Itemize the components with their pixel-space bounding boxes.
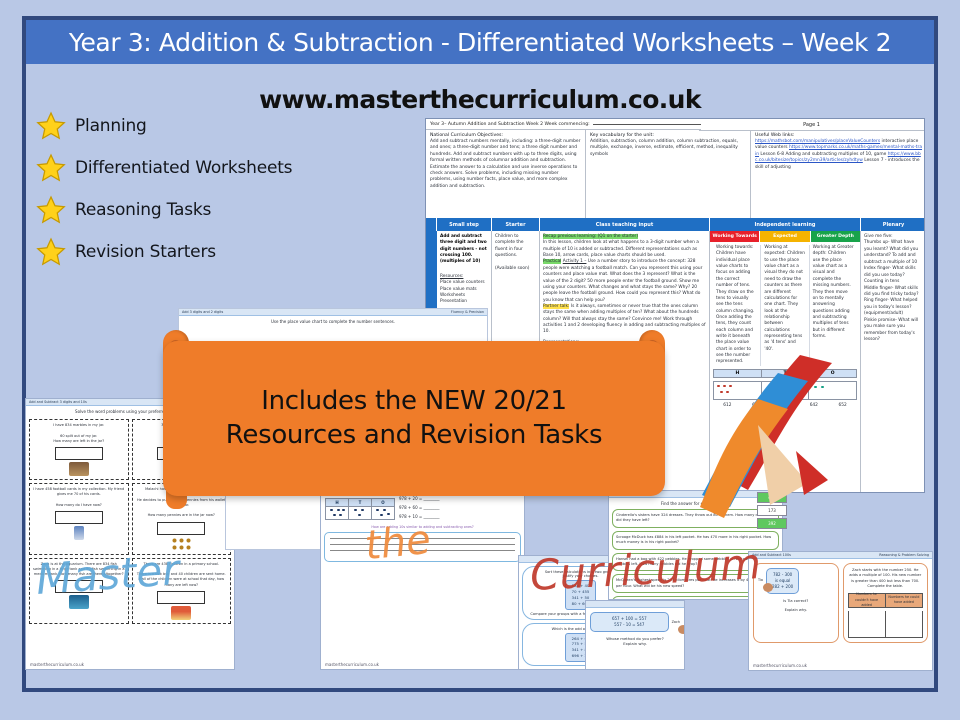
worksheet-header-right: Fluency & Precision — [451, 310, 484, 314]
pv-col-tens: T — [349, 499, 372, 519]
list-item: Differentiated Worksheets — [36, 147, 366, 189]
worksheet-header-left: Add and Subtract 3 digits and 10s — [29, 400, 87, 404]
avatar-name: Zach — [672, 620, 680, 624]
table-cell[interactable] — [849, 611, 886, 637]
list-item-label: Revision Starters — [75, 242, 216, 262]
table-header-cell: Numbers he could have added — [886, 594, 922, 607]
football-card-image — [74, 526, 84, 540]
answer-box[interactable] — [157, 591, 205, 604]
word-problem-cell: I have 834 marbles in my jar. 60 spilt o… — [29, 419, 129, 480]
worksheet-footer-url: masterthecurriculum.co.uk — [753, 663, 807, 668]
banner-line-2: Resources and Revision Tasks — [226, 419, 602, 452]
answer-table-body[interactable] — [848, 611, 924, 638]
small-step-text: Add and subtract three digit and two dig… — [440, 234, 487, 264]
cell-text: There are 438 children in a primary scho… — [137, 562, 226, 587]
planning-header-line: Year 3– Autumn Addition and Subtraction … — [426, 119, 701, 130]
worksheet-header — [586, 601, 684, 608]
worksheet-header: Add and Subtract 100s Reasoning & Proble… — [749, 552, 932, 559]
col-header-plenary: Plenary — [861, 218, 925, 231]
resources-text: Place value counters Place value mats Wo… — [440, 280, 488, 305]
equation[interactable]: 978 + 20 = ________ — [399, 495, 440, 504]
pv-col-hundreds: H — [326, 499, 349, 519]
tia-question: Is Tia correct? — [758, 599, 834, 604]
method-bubble: 657 + 100 = 557 557 - 10 = 547 — [590, 612, 669, 632]
banner-line-1: Includes the NEW 20/21 — [261, 385, 567, 418]
star-icon — [36, 237, 66, 267]
aquarium-image — [69, 595, 89, 609]
activity-tag: Activity 1 – — [563, 259, 587, 264]
resources-heading: Resources: — [440, 274, 463, 279]
tia-reasoning-card[interactable]: Add and Subtract 100s Reasoning & Proble… — [748, 551, 933, 671]
pv-col-ones: O — [372, 499, 394, 519]
col-header-class-teaching: Class teaching input — [540, 218, 710, 231]
worksheet-header-left: Add 3 digits and 2 digits — [182, 310, 223, 314]
answer-box[interactable] — [157, 522, 205, 535]
planning-column-headers: Small step Starter Class teaching input … — [426, 218, 925, 231]
worksheet-footer-url: masterthecurriculum.co.uk — [325, 662, 379, 667]
star-icon — [36, 111, 66, 141]
list-item: Revision Starters — [36, 231, 366, 273]
recap-tag: Recap previous learning: (Q1 on the star… — [543, 234, 638, 239]
col-header-starter: Starter — [492, 218, 540, 231]
col-header-small-step: Small step — [437, 218, 492, 231]
worksheet-header-right: Reasoning & Problem Solving — [879, 553, 929, 557]
answer-box[interactable] — [55, 580, 103, 593]
list-item-label: Reasoning Tasks — [75, 200, 211, 220]
school-image — [171, 606, 191, 620]
slide-canvas: Year 3: Addition & Subtraction - Differe… — [0, 0, 960, 720]
list-item-label: Differentiated Worksheets — [75, 158, 292, 178]
reasoning-item: Scrooge McDuck has £884 in his left pock… — [612, 531, 779, 550]
teaching-body-2: Use a number story to introduce the conc… — [543, 259, 702, 302]
feature-list: Planning Differentiated Worksheets Reaso… — [36, 105, 366, 273]
plenary-text: Give me five: Thumbs up- What have you l… — [864, 234, 923, 343]
word-problem-cell: I have 458 football cards in my collecti… — [29, 483, 129, 555]
table-cell[interactable] — [886, 611, 922, 637]
cell-text: I have 458 football cards in my collecti… — [33, 487, 124, 507]
answer-speech-box[interactable] — [324, 532, 521, 562]
rag-label-expected: Expected — [760, 231, 810, 242]
slide-title-bar: Year 3: Addition & Subtraction - Differe… — [26, 20, 934, 64]
word-problem-cell: There are 438 children in a primary scho… — [132, 558, 232, 624]
answer-box[interactable] — [55, 511, 103, 524]
equation[interactable]: 978 + 10 = ________ — [399, 513, 440, 522]
ribbon-decoration — [700, 355, 860, 520]
method-comparison-card[interactable]: 657 + 100 = 557 557 - 10 = 547 Zach Whos… — [585, 600, 685, 670]
answer-box[interactable] — [55, 447, 103, 460]
partner-talk-tag: Partner talk: — [543, 304, 569, 309]
coins-image — [171, 537, 191, 551]
tia-left-card: Tia 782 - 300 is equal 282 + 200 Is Tia … — [753, 563, 839, 643]
worksheet-title: Use the place value chart to complete th… — [179, 319, 487, 324]
nc-objectives-box: National Curriculum Objectives: Add and … — [426, 130, 586, 218]
list-item: Reasoning Tasks — [36, 189, 366, 231]
key-vocabulary-box: Key vocabulary for the unit: Addition, s… — [586, 130, 751, 218]
cell-text: Zach is at the aquarium. There are 834 f… — [33, 562, 125, 577]
tia-explain: Explain why. — [758, 608, 834, 613]
method-question: Whose method do you prefer? Explain why. — [586, 636, 684, 646]
cell-plenary: Give me five: Thumbs up- What have you l… — [861, 231, 925, 493]
jar-of-marbles-image — [69, 462, 89, 476]
list-item-label: Planning — [75, 116, 147, 136]
worksheet-header: Add 3 digits and 2 digits Fluency & Prec… — [179, 309, 487, 316]
star-icon — [36, 195, 66, 225]
worksheet-footer-url: masterthecurriculum.co.uk — [30, 662, 84, 667]
list-item: Planning — [36, 105, 366, 147]
rag-label-working-towards: Working Towards — [710, 231, 760, 242]
link-item[interactable]: https://mathsbot.com/manipulatives/place… — [755, 139, 880, 144]
useful-links-box: Useful Web links: https://mathsbot.com/m… — [751, 130, 925, 218]
reflection-prompt: How are adding 10s similar to adding and… — [321, 525, 524, 529]
rag-body-working-towards: Working towards: Children have individua… — [713, 245, 761, 366]
teaching-body-1: In this lesson, children look at what ha… — [543, 240, 706, 259]
table-header-cell: Numbers he couldn't have added — [849, 594, 886, 607]
rag-body-greater-depth: Working at Greater depth: Children use t… — [810, 245, 857, 366]
rag-body-expected: Working at expected: Children to use the… — [761, 245, 809, 366]
place-value-grid: H T O — [325, 498, 395, 520]
cell-text: I have 834 marbles in my jar. 60 spilt o… — [53, 423, 104, 443]
starter-text: Children to complete the fluent in four … — [495, 234, 536, 272]
star-icon — [36, 153, 66, 183]
link-note: Lesson 6-8 Adding and subtracting multip… — [760, 152, 886, 157]
worksheet-header-left: Add and Subtract 100s — [752, 553, 791, 557]
word-problem-cell: Zach is at the aquarium. There are 834 f… — [29, 558, 129, 624]
zach-problem-text: Zach starts with the number 250. He adds… — [848, 568, 924, 590]
rag-header-row: Working Towards Expected Greater Depth — [710, 231, 860, 242]
planning-info-row: National Curriculum Objectives: Add and … — [426, 130, 925, 218]
tia-right-card: Zach starts with the number 250. He adds… — [843, 563, 929, 643]
pv-row: H T O — [325, 495, 520, 521]
col-header-independent: Independent learning — [710, 218, 861, 231]
rag-label-greater-depth: Greater Depth — [811, 231, 860, 242]
equation[interactable]: 978 + 60 = ________ — [399, 504, 440, 513]
practical-tag: Practical — [543, 259, 561, 264]
answer-table[interactable]: Numbers he couldn't have added Numbers h… — [848, 593, 924, 608]
promo-banner[interactable]: Includes the NEW 20/21 Resources and Rev… — [163, 341, 665, 496]
page-title: Year 3: Addition & Subtraction - Differe… — [69, 28, 891, 57]
avatar-name: Tia — [758, 578, 763, 583]
